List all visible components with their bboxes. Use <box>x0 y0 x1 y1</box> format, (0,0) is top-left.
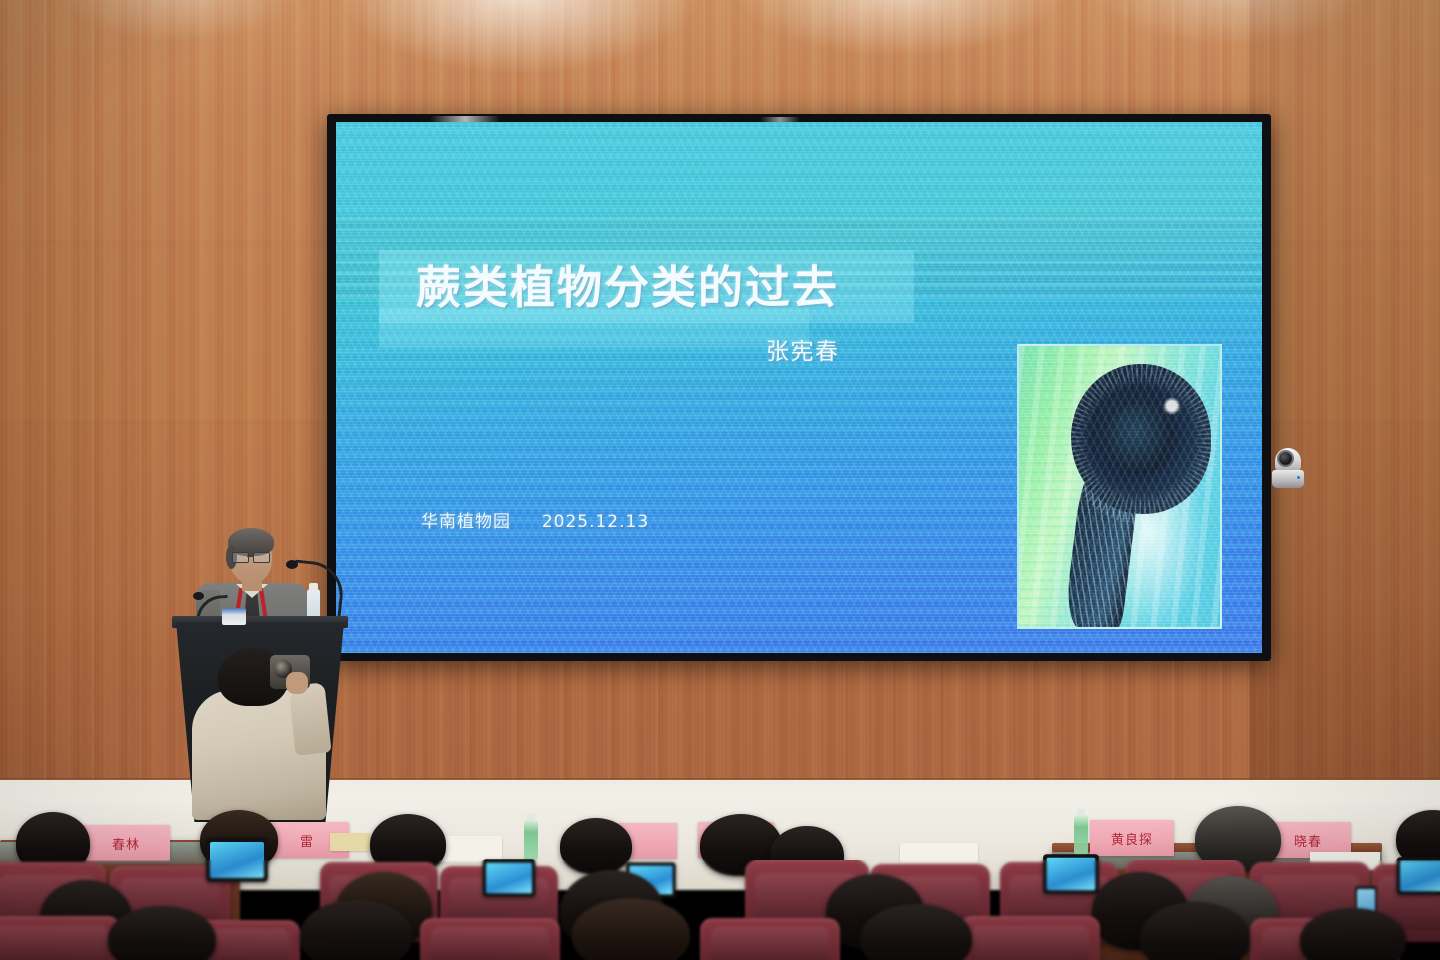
slide-footer: 华南植物园 2025.12.13 <box>421 507 649 532</box>
tablet-device[interactable] <box>483 859 536 896</box>
photographer-hand <box>286 672 308 694</box>
document-sheet <box>440 836 502 862</box>
audience-head <box>572 898 690 960</box>
microphone-head-right <box>286 560 298 569</box>
slide-title: 蕨类植物分类的过去 <box>416 258 936 318</box>
auditorium-seat <box>700 918 840 960</box>
fern-crozier-coil <box>1071 364 1211 514</box>
slide-author: 张宪春 <box>766 332 840 366</box>
fern-stem-scales <box>1058 450 1149 629</box>
name-card: 黄良探 <box>1090 820 1174 856</box>
audience-head <box>560 818 632 874</box>
audience-head <box>300 900 412 960</box>
slide-footer-venue: 华南植物园 <box>421 512 511 532</box>
ptz-camera-led-icon <box>1297 476 1300 479</box>
title-highlight-band <box>379 250 914 323</box>
water-bottle <box>524 820 538 860</box>
lecture-hall-photo: 蕨类植物分类的过去 张宪春 华南植物园 2025.12.13 <box>0 0 1440 960</box>
fern-background-highlight <box>1114 466 1204 629</box>
auditorium-seat <box>420 918 560 960</box>
name-card: 春林 <box>82 825 170 861</box>
ptz-camera-mount <box>1272 470 1304 488</box>
fern-stem <box>1063 448 1143 629</box>
tablet-device[interactable] <box>1043 854 1099 894</box>
glasses-icon <box>232 552 270 561</box>
title-highlight-band-secondary <box>379 308 809 348</box>
microphone-head-left <box>193 592 204 600</box>
tablet-device[interactable] <box>1397 857 1440 894</box>
document-sheet <box>330 833 370 851</box>
screen-scan-bands <box>336 217 1262 297</box>
presentation-screen[interactable]: 蕨类植物分类的过去 张宪春 华南植物园 2025.12.13 <box>336 122 1262 653</box>
fern-crozier-scales <box>1063 356 1219 524</box>
ptz-camera-lens-icon <box>1279 452 1292 465</box>
fern-background-streaks <box>1019 346 1220 627</box>
auditorium-seat <box>0 916 120 960</box>
fern-crozier-inner-coil <box>1107 404 1173 474</box>
speaker-id-badge <box>222 608 246 625</box>
water-bottle <box>1074 815 1088 855</box>
document-sheet <box>900 843 978 863</box>
tablet-device[interactable] <box>206 838 268 882</box>
fern-fiddlehead-image <box>1017 344 1222 629</box>
screen-top-glow <box>336 122 1262 297</box>
slide-footer-date: 2025.12.13 <box>542 512 649 532</box>
fern-image-moire <box>1019 346 1220 627</box>
podium-water-bottle-cap <box>309 583 318 590</box>
auditorium-seat <box>960 916 1100 960</box>
